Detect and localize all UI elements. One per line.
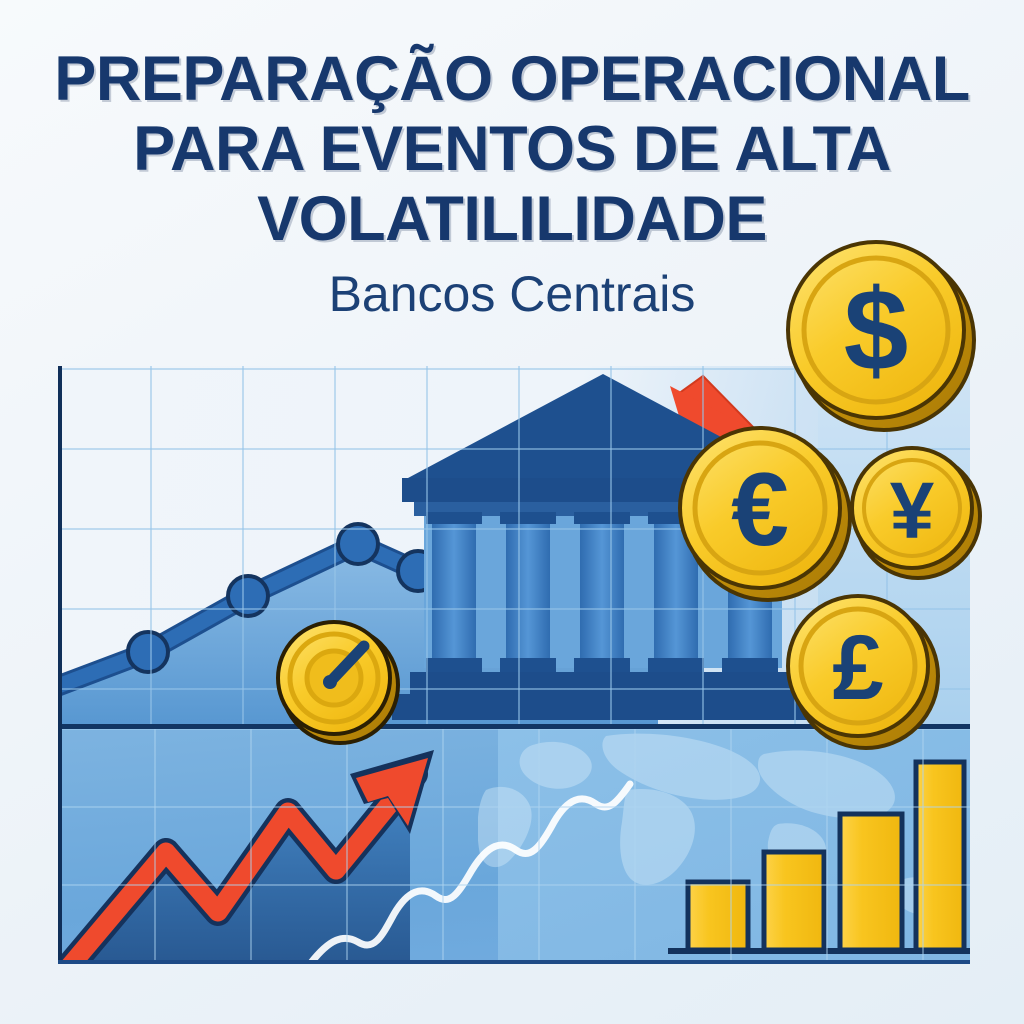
title-block: PREPARAÇÃO OPERACIONAL PARA EVENTOS DE A… [0, 44, 1024, 322]
title-line-1: PREPARAÇÃO OPERACIONAL [0, 44, 1024, 114]
panel-bottom-edge [58, 960, 970, 964]
panel-left-axis [58, 366, 62, 964]
upper-grid [58, 366, 970, 728]
subtitle: Bancos Centrais [0, 266, 1024, 322]
title-line-2: PARA EVENTOS DE ALTA [0, 114, 1024, 184]
upper-chart-area [58, 366, 970, 728]
lower-grid [58, 728, 970, 964]
poster-canvas: PREPARAÇÃO OPERACIONAL PARA EVENTOS DE A… [0, 0, 1024, 1024]
lower-chart-area [58, 728, 970, 964]
panel-divider [58, 724, 970, 729]
illustration-panel [58, 366, 970, 964]
title-line-3: VOLATILILIDADE [0, 184, 1024, 254]
